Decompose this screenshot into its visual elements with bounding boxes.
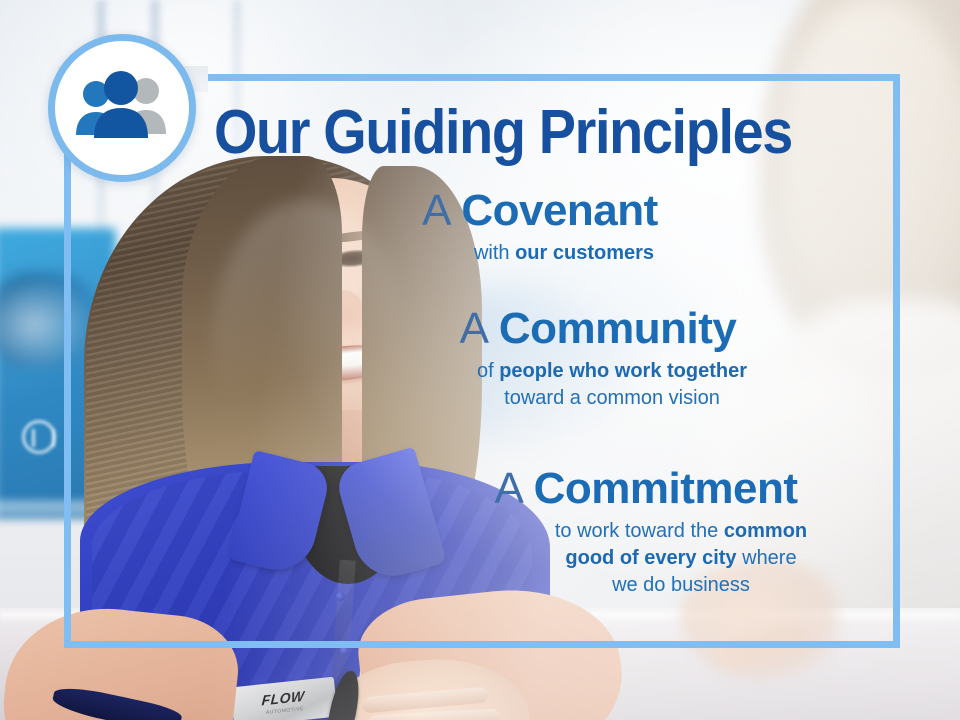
shirt-button: [336, 592, 345, 601]
shirt-button: [340, 646, 349, 655]
employee-portrait: FLOW FLOW AUTOMOTIVE: [62, 140, 582, 720]
hair-sheen: [212, 200, 402, 480]
people-group-badge: [48, 34, 196, 182]
poster-brand-logo: [22, 420, 56, 454]
name-badge-brand: FLOW: [262, 688, 306, 709]
people-group-icon: [70, 70, 174, 146]
customer-hair-highlight: [780, 0, 960, 300]
guiding-principles-banner: FLOW FLOW AUTOMOTIVE: [0, 0, 960, 720]
name-badge-subtext: AUTOMOTIVE: [266, 706, 304, 716]
